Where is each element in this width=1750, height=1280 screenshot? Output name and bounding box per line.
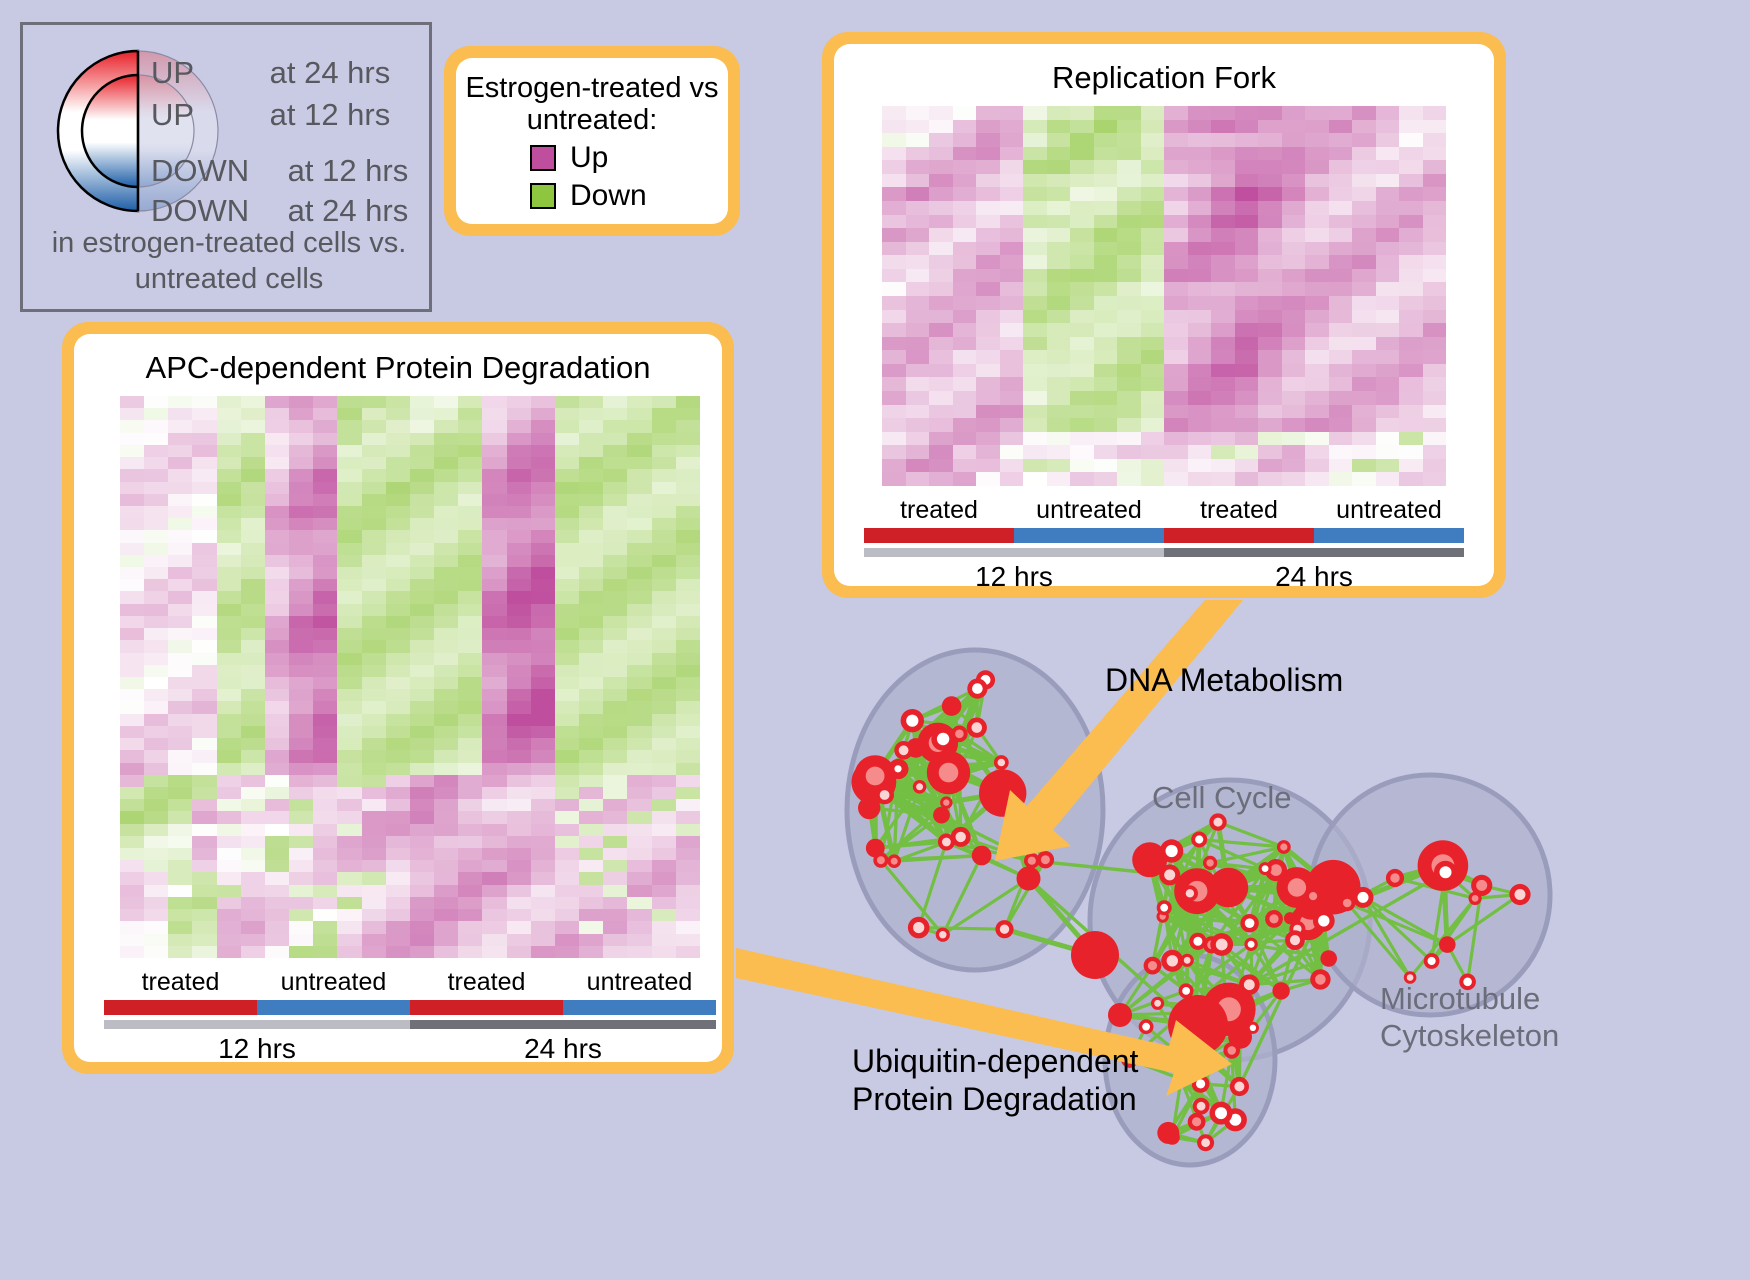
heatmap-cell bbox=[603, 433, 627, 445]
network-node[interactable] bbox=[1509, 884, 1530, 905]
heatmap-cell bbox=[929, 133, 953, 147]
heatmap-cell bbox=[120, 628, 144, 640]
heatmap-cell bbox=[482, 591, 506, 603]
heatmap-cell bbox=[1023, 337, 1047, 351]
network-node[interactable] bbox=[1168, 995, 1228, 1055]
heatmap-cell bbox=[603, 555, 627, 567]
network-node[interactable] bbox=[1259, 862, 1272, 875]
heatmap-cell bbox=[1117, 187, 1141, 201]
heatmap-cell bbox=[676, 860, 700, 872]
network-node[interactable] bbox=[1161, 950, 1183, 972]
heatmap-cell bbox=[386, 616, 410, 628]
network-node[interactable] bbox=[901, 709, 924, 732]
heatmap-cell bbox=[1070, 160, 1094, 174]
network-node[interactable] bbox=[1244, 938, 1257, 951]
heatmap-cell bbox=[1235, 201, 1259, 215]
heatmap-cell bbox=[362, 555, 386, 567]
network-node[interactable] bbox=[1193, 1098, 1210, 1115]
heatmap-cell bbox=[362, 799, 386, 811]
heatmap-cell bbox=[362, 848, 386, 860]
heatmap-cell bbox=[1047, 187, 1071, 201]
heatmap-cell bbox=[1258, 120, 1282, 134]
heatmap-cell bbox=[652, 665, 676, 677]
apc-group-label-1: untreated bbox=[257, 968, 410, 997]
heatmap-cell bbox=[1376, 160, 1400, 174]
heatmap-cell bbox=[482, 518, 506, 530]
heatmap-cell bbox=[1329, 459, 1353, 473]
network-node[interactable] bbox=[1439, 936, 1456, 953]
heatmap-cell bbox=[313, 934, 337, 946]
network-node[interactable] bbox=[1305, 888, 1321, 904]
rf-time-labels: 12 hrs 24 hrs bbox=[864, 561, 1464, 593]
heatmap-cell bbox=[144, 860, 168, 872]
network-node[interactable] bbox=[887, 854, 901, 868]
heatmap-cell bbox=[386, 885, 410, 897]
heatmap-cell bbox=[192, 921, 216, 933]
heatmap-cell bbox=[555, 567, 579, 579]
heatmap-cell bbox=[458, 677, 482, 689]
network-node[interactable] bbox=[1139, 1019, 1154, 1034]
replication-fork-sample-annotation: treated untreated treated untreated 12 h bbox=[864, 496, 1464, 593]
heatmap-cell bbox=[555, 506, 579, 518]
heatmap-cell bbox=[289, 518, 313, 530]
heatmap-cell bbox=[458, 640, 482, 652]
heatmap-cell bbox=[579, 860, 603, 872]
heatmap-cell bbox=[1352, 201, 1376, 215]
heatmap-cell bbox=[976, 215, 1000, 229]
heatmap-cell bbox=[386, 469, 410, 481]
network-edge bbox=[919, 928, 1005, 930]
heatmap-cell bbox=[1047, 472, 1071, 486]
network-node[interactable] bbox=[1159, 864, 1180, 885]
heatmap-cell bbox=[1188, 160, 1212, 174]
heatmap-cell bbox=[410, 799, 434, 811]
heatmap-cell bbox=[627, 909, 651, 921]
heatmap-cell bbox=[386, 433, 410, 445]
heatmap-cell bbox=[1282, 364, 1306, 378]
network-node[interactable] bbox=[1310, 969, 1330, 989]
heatmap-cell bbox=[265, 848, 289, 860]
heatmap-cell bbox=[1399, 445, 1423, 459]
heatmap-cell bbox=[192, 946, 216, 958]
network-node[interactable] bbox=[972, 846, 992, 866]
heatmap-cell bbox=[1329, 350, 1353, 364]
heatmap-cell bbox=[458, 738, 482, 750]
heatmap-cell bbox=[1094, 323, 1118, 337]
network-node[interactable] bbox=[967, 718, 987, 738]
heatmap-cell bbox=[144, 775, 168, 787]
heatmap-cell bbox=[386, 445, 410, 457]
rf-time-bar-24 bbox=[1164, 548, 1464, 557]
heatmap-cell bbox=[144, 665, 168, 677]
heatmap-cell bbox=[217, 836, 241, 848]
network-node[interactable] bbox=[967, 679, 987, 699]
heatmap-cell bbox=[555, 433, 579, 445]
network-node[interactable] bbox=[1223, 1042, 1240, 1059]
network-node[interactable] bbox=[1230, 1077, 1249, 1096]
heatmap-cell bbox=[458, 934, 482, 946]
heatmap-cell bbox=[434, 701, 458, 713]
heatmap-cell bbox=[906, 269, 930, 283]
heatmap-cell bbox=[289, 628, 313, 640]
network-node[interactable] bbox=[1265, 910, 1283, 928]
heatmap-cell bbox=[1329, 310, 1353, 324]
heatmap-cell bbox=[458, 811, 482, 823]
heatmap-cell bbox=[976, 187, 1000, 201]
heatmap-cell bbox=[265, 530, 289, 542]
heatmap-cell bbox=[362, 689, 386, 701]
network-node[interactable] bbox=[931, 727, 955, 751]
heatmap-cell bbox=[652, 445, 676, 457]
heatmap-cell bbox=[337, 604, 361, 616]
network-node[interactable] bbox=[913, 780, 927, 794]
heatmap-cell bbox=[1282, 174, 1306, 188]
heatmap-cell bbox=[676, 763, 700, 775]
heatmap-cell bbox=[1164, 160, 1188, 174]
heatmap-cell bbox=[1305, 282, 1329, 296]
heatmap-cell bbox=[882, 310, 906, 324]
heatmap-cell bbox=[1023, 242, 1047, 256]
network-node[interactable] bbox=[1353, 887, 1374, 908]
network-node[interactable] bbox=[1434, 861, 1457, 884]
heatmap-cell bbox=[386, 848, 410, 860]
network-node[interactable] bbox=[1192, 1075, 1210, 1093]
heatmap-cell bbox=[458, 506, 482, 518]
heatmap-cell bbox=[1305, 215, 1329, 229]
network-node[interactable] bbox=[1284, 912, 1296, 924]
heatmap-cell bbox=[906, 377, 930, 391]
network-node[interactable] bbox=[979, 769, 1026, 816]
heatmap-cell bbox=[241, 457, 265, 469]
network-node[interactable] bbox=[1469, 892, 1482, 905]
heatmap-cell bbox=[882, 147, 906, 161]
network-node[interactable] bbox=[951, 726, 968, 743]
heatmap-cell bbox=[289, 921, 313, 933]
heatmap-cell bbox=[265, 640, 289, 652]
network-node[interactable] bbox=[936, 928, 950, 942]
legend-item-up: Up bbox=[530, 141, 728, 175]
heatmap-cell bbox=[482, 909, 506, 921]
heatmap-cell bbox=[1211, 242, 1235, 256]
network-node[interactable] bbox=[875, 786, 894, 805]
heatmap-cell bbox=[555, 726, 579, 738]
network-node[interactable] bbox=[1071, 931, 1119, 979]
heatmap-cell bbox=[1117, 147, 1141, 161]
network-node[interactable] bbox=[995, 920, 1013, 938]
heatmap-cell bbox=[1094, 201, 1118, 215]
heatmap-cell bbox=[482, 726, 506, 738]
heatmap-cell bbox=[168, 836, 192, 848]
heatmap-cell bbox=[386, 457, 410, 469]
heatmap-cell bbox=[579, 396, 603, 408]
heatmap-cell bbox=[676, 616, 700, 628]
heatmap-cell bbox=[676, 738, 700, 750]
heatmap-cell bbox=[603, 494, 627, 506]
heatmap-cell bbox=[265, 909, 289, 921]
heatmap-cell bbox=[531, 628, 555, 640]
network-node[interactable] bbox=[1182, 885, 1198, 901]
network-node[interactable] bbox=[1017, 867, 1041, 891]
heatmap-cell bbox=[1047, 350, 1071, 364]
network-node[interactable] bbox=[1188, 1113, 1206, 1131]
heatmap-cell bbox=[120, 934, 144, 946]
heatmap-cell bbox=[676, 689, 700, 701]
heatmap-cell bbox=[1188, 391, 1212, 405]
legend-row-up-24: UP at 24 hrs bbox=[151, 55, 390, 91]
heatmap-cell bbox=[192, 445, 216, 457]
network-node[interactable] bbox=[1320, 950, 1337, 967]
heatmap-cell bbox=[1329, 445, 1353, 459]
heatmap-cell bbox=[531, 408, 555, 420]
heatmap-cell bbox=[603, 628, 627, 640]
network-node[interactable] bbox=[942, 696, 962, 716]
heatmap-cell bbox=[168, 420, 192, 432]
network-node[interactable] bbox=[1424, 953, 1440, 969]
network-node[interactable] bbox=[938, 834, 955, 851]
heatmap-cell bbox=[1188, 201, 1212, 215]
heatmap-cell bbox=[458, 860, 482, 872]
heatmap-cell bbox=[144, 897, 168, 909]
heatmap-cell bbox=[386, 518, 410, 530]
network-node[interactable] bbox=[1144, 957, 1162, 975]
heatmap-cell bbox=[168, 714, 192, 726]
network-node[interactable] bbox=[1024, 853, 1040, 869]
heatmap-cell bbox=[168, 555, 192, 567]
heatmap-cell bbox=[976, 432, 1000, 446]
network-node[interactable] bbox=[1277, 840, 1291, 854]
heatmap-cell bbox=[603, 921, 627, 933]
network-node[interactable] bbox=[1313, 910, 1335, 932]
heatmap-cell bbox=[337, 530, 361, 542]
heatmap-cell bbox=[120, 921, 144, 933]
heatmap-cell bbox=[1000, 147, 1024, 161]
heatmap-cell bbox=[953, 228, 977, 242]
network-node[interactable] bbox=[1272, 982, 1289, 999]
heatmap-cell bbox=[929, 364, 953, 378]
network-node[interactable] bbox=[1209, 813, 1226, 830]
heatmap-cell bbox=[507, 860, 531, 872]
heatmap-cell bbox=[555, 897, 579, 909]
heatmap-cell bbox=[1305, 174, 1329, 188]
heatmap-cell bbox=[313, 763, 337, 775]
heatmap-cell bbox=[507, 738, 531, 750]
network-node[interactable] bbox=[1175, 1073, 1188, 1086]
network-node[interactable] bbox=[1210, 933, 1233, 956]
heatmap-cell bbox=[410, 482, 434, 494]
heatmap-cell bbox=[265, 689, 289, 701]
heatmap-cell bbox=[1211, 187, 1235, 201]
figure-canvas: UP at 24 hrs UP at 12 hrs DOWN at 12 hrs… bbox=[0, 0, 1750, 1279]
heatmap-cell bbox=[241, 665, 265, 677]
heatmap-cell bbox=[1047, 418, 1071, 432]
heatmap-cell bbox=[265, 604, 289, 616]
heatmap-cell bbox=[627, 445, 651, 457]
heatmap-cell bbox=[313, 628, 337, 640]
apc-time-bar-12 bbox=[104, 1020, 410, 1029]
heatmap-cell bbox=[531, 897, 555, 909]
heatmap-cell bbox=[241, 530, 265, 542]
heatmap-cell bbox=[289, 946, 313, 958]
heatmap-cell bbox=[676, 591, 700, 603]
network-node[interactable] bbox=[1108, 1003, 1132, 1027]
network-node[interactable] bbox=[1197, 1134, 1214, 1151]
heatmap-cell bbox=[386, 872, 410, 884]
heatmap-cell bbox=[555, 799, 579, 811]
heatmap-cell bbox=[1070, 269, 1094, 283]
heatmap-cell bbox=[192, 653, 216, 665]
heatmap-cell bbox=[434, 543, 458, 555]
heatmap-cell bbox=[1047, 201, 1071, 215]
heatmap-cell bbox=[652, 909, 676, 921]
network-node[interactable] bbox=[1386, 869, 1404, 887]
heatmap-cell bbox=[1376, 377, 1400, 391]
heatmap-cell bbox=[241, 763, 265, 775]
heatmap-cell bbox=[676, 885, 700, 897]
heatmap-cell bbox=[1235, 174, 1259, 188]
heatmap-cell bbox=[410, 469, 434, 481]
heatmap-cell bbox=[337, 836, 361, 848]
heatmap-cell bbox=[313, 555, 337, 567]
network-label-ubiquitin-degradation: Ubiquitin-dependent Protein Degradation bbox=[852, 1042, 1138, 1119]
heatmap-cell bbox=[217, 567, 241, 579]
heatmap-cell bbox=[482, 799, 506, 811]
network-node[interactable] bbox=[927, 751, 970, 794]
heatmap-cell bbox=[627, 738, 651, 750]
heatmap-cell bbox=[1070, 391, 1094, 405]
heatmap-cell bbox=[337, 921, 361, 933]
heatmap-cell bbox=[531, 530, 555, 542]
heatmap-cell bbox=[410, 701, 434, 713]
heatmap-cell bbox=[289, 872, 313, 884]
heatmap-cell bbox=[953, 445, 977, 459]
network-node[interactable] bbox=[873, 853, 888, 868]
network-node[interactable] bbox=[1203, 856, 1217, 870]
heatmap-cell bbox=[1164, 445, 1188, 459]
heatmap-cell bbox=[434, 494, 458, 506]
heatmap-cell bbox=[458, 946, 482, 958]
heatmap-cell bbox=[531, 543, 555, 555]
heatmap-cell bbox=[929, 445, 953, 459]
heatmap-cell bbox=[882, 174, 906, 188]
heatmap-cell bbox=[603, 653, 627, 665]
network-node[interactable] bbox=[1151, 997, 1164, 1010]
network-node[interactable] bbox=[933, 807, 950, 824]
heatmap-cell bbox=[217, 604, 241, 616]
heatmap-cell bbox=[337, 420, 361, 432]
heatmap-cell bbox=[1211, 269, 1235, 283]
heatmap-cell bbox=[929, 418, 953, 432]
heatmap-cell bbox=[458, 836, 482, 848]
heatmap-cell bbox=[410, 763, 434, 775]
network-node[interactable] bbox=[894, 741, 913, 760]
heatmap-cell bbox=[362, 494, 386, 506]
heatmap-cell bbox=[976, 242, 1000, 256]
heatmap-cell bbox=[313, 616, 337, 628]
heatmap-cell bbox=[1211, 432, 1235, 446]
heatmap-cell bbox=[217, 665, 241, 677]
heatmap-cell bbox=[555, 543, 579, 555]
network-node[interactable] bbox=[891, 762, 905, 776]
heatmap-cell bbox=[313, 530, 337, 542]
heatmap-cell bbox=[1141, 364, 1165, 378]
heatmap-cell bbox=[555, 811, 579, 823]
heatmap-cell bbox=[531, 763, 555, 775]
heatmap-cell bbox=[1094, 242, 1118, 256]
network-node[interactable] bbox=[994, 755, 1009, 770]
heatmap-cell bbox=[603, 396, 627, 408]
heatmap-cell bbox=[217, 750, 241, 762]
heatmap-cell bbox=[482, 897, 506, 909]
heatmap-cell bbox=[168, 543, 192, 555]
heatmap-cell bbox=[1235, 459, 1259, 473]
network-node[interactable] bbox=[1210, 1102, 1233, 1125]
heatmap-cell bbox=[1188, 215, 1212, 229]
heatmap-cell bbox=[482, 469, 506, 481]
heatmap-cell bbox=[603, 714, 627, 726]
heatmap-cell bbox=[1329, 282, 1353, 296]
heatmap-cell bbox=[1376, 133, 1400, 147]
network-node[interactable] bbox=[1285, 930, 1305, 950]
network-node[interactable] bbox=[1181, 954, 1194, 967]
heatmap-cell bbox=[1423, 405, 1447, 419]
heatmap-cell bbox=[1164, 391, 1188, 405]
heatmap-cell bbox=[603, 408, 627, 420]
heatmap-cell bbox=[507, 848, 531, 860]
network-node[interactable] bbox=[908, 917, 930, 939]
heatmap-cell bbox=[289, 763, 313, 775]
rf-bar-untreated-24 bbox=[1314, 528, 1464, 543]
heatmap-cell bbox=[265, 714, 289, 726]
heatmap-cell bbox=[1094, 215, 1118, 229]
network-node[interactable] bbox=[1165, 1130, 1180, 1145]
network-node[interactable] bbox=[1191, 832, 1207, 848]
heatmap-cell bbox=[1258, 242, 1282, 256]
heatmap-cell bbox=[168, 579, 192, 591]
heatmap-cell bbox=[953, 350, 977, 364]
network-node[interactable] bbox=[1182, 1055, 1199, 1072]
heatmap-cell bbox=[929, 391, 953, 405]
heatmap-cell bbox=[1117, 255, 1141, 269]
heatmap-cell bbox=[953, 432, 977, 446]
heatmap-cell bbox=[168, 677, 192, 689]
heatmap-cell bbox=[555, 579, 579, 591]
heatmap-cell bbox=[217, 518, 241, 530]
heatmap-cell bbox=[482, 750, 506, 762]
heatmap-cell bbox=[1070, 106, 1094, 120]
heatmap-cell bbox=[976, 405, 1000, 419]
heatmap-cell bbox=[1000, 418, 1024, 432]
heatmap-cell bbox=[1376, 201, 1400, 215]
heatmap-cell bbox=[120, 738, 144, 750]
network-node[interactable] bbox=[1160, 839, 1183, 862]
heatmap-cell bbox=[579, 653, 603, 665]
heatmap-cell bbox=[386, 494, 410, 506]
rf-group-label-1: untreated bbox=[1014, 496, 1164, 525]
heatmap-cell bbox=[1070, 201, 1094, 215]
heatmap-cell bbox=[386, 750, 410, 762]
heatmap-cell bbox=[1282, 215, 1306, 229]
heatmap-cell bbox=[882, 255, 906, 269]
network-node[interactable] bbox=[1157, 900, 1172, 915]
heatmap-cell bbox=[676, 848, 700, 860]
heatmap-cell bbox=[337, 640, 361, 652]
heatmap-cell bbox=[1305, 350, 1329, 364]
heatmap-cell bbox=[1117, 323, 1141, 337]
heatmap-cell bbox=[1329, 269, 1353, 283]
heatmap-cell bbox=[289, 653, 313, 665]
heatmap-cell bbox=[362, 921, 386, 933]
network-node[interactable] bbox=[1240, 914, 1258, 932]
